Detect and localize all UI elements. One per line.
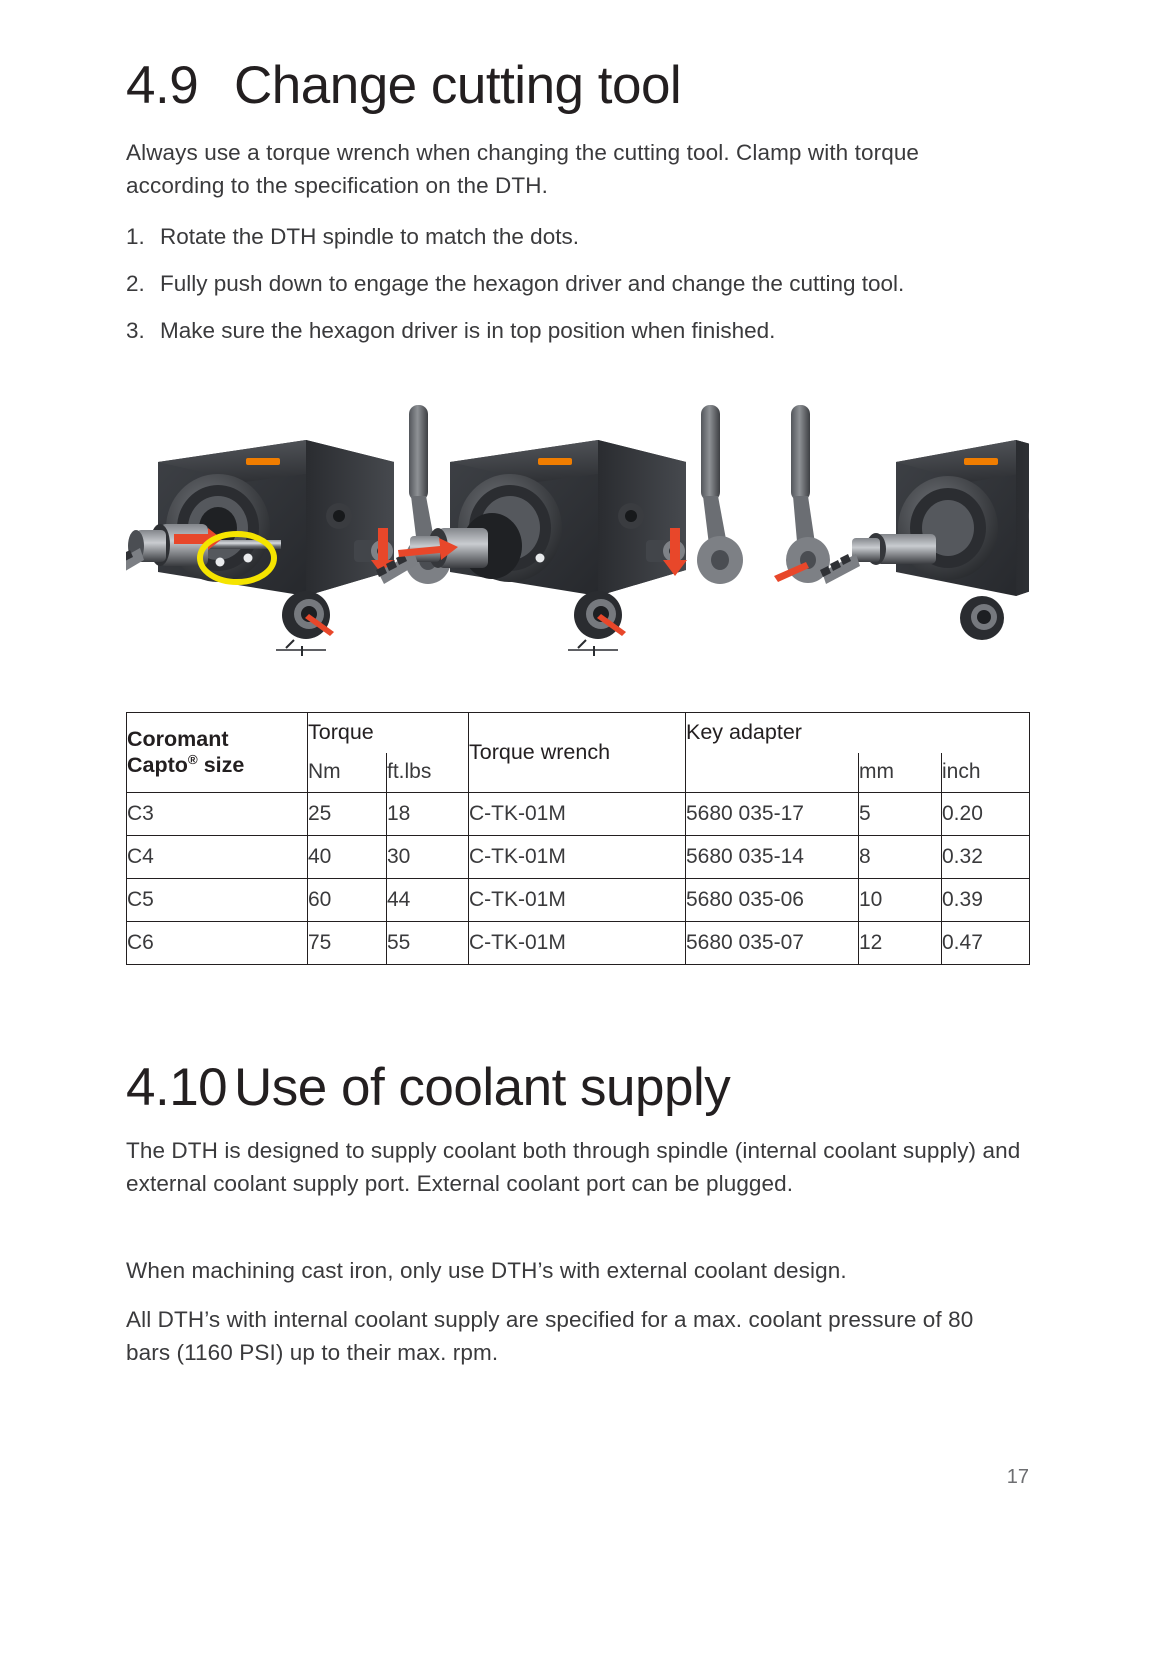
hexagon-driver-detail: [276, 591, 334, 656]
header-coromant-capto-size: Coromant Capto® size: [127, 713, 308, 793]
header-torque: Torque: [308, 713, 469, 753]
header-capto-size-line2: Capto® size: [127, 752, 307, 778]
hexagon-driver-detail: [568, 591, 626, 656]
alignment-dot: [244, 554, 253, 563]
dth-body: [896, 440, 1029, 596]
section-410-title: Use of coolant supply: [234, 1060, 1029, 1116]
header-torque-wrench: Torque wrench: [469, 713, 686, 793]
table-row: C4 40 30 C-TK-01M 5680 035-14 8 0.32: [127, 836, 1030, 879]
page-number: 17: [0, 1466, 1029, 1489]
table-row: C6 75 55 C-TK-01M 5680 035-07 12 0.47: [127, 922, 1030, 965]
cell-mm: 12: [859, 922, 942, 965]
torque-specification-table-wrapper: Coromant Capto® size Torque Torque wrenc…: [126, 712, 1029, 965]
cell-ftlbs: 44: [387, 879, 469, 922]
header-unit-mm: mm: [859, 753, 942, 793]
clamp-lever-icon: [697, 405, 743, 584]
cell-key-adapter: 5680 035-06: [686, 879, 859, 922]
cell-mm: 5: [859, 793, 942, 836]
dth-tool-illustration: [126, 400, 1029, 685]
table-row: C3 25 18 C-TK-01M 5680 035-17 5 0.20: [127, 793, 1030, 836]
cell-nm: 40: [308, 836, 387, 879]
list-item: 3. Make sure the hexagon driver is in to…: [126, 314, 1016, 347]
section-410-heading: 4.10 Use of coolant supply: [126, 1060, 1029, 1116]
cell-size: C5: [127, 879, 308, 922]
cell-ftlbs: 18: [387, 793, 469, 836]
step-text: Rotate the DTH spindle to match the dots…: [160, 220, 1016, 253]
section-49-heading: 4.9 Change cutting tool: [126, 58, 1029, 114]
brand-label: [964, 458, 998, 465]
alignment-dot: [216, 558, 225, 567]
torque-specification-table: Coromant Capto® size Torque Torque wrenc…: [126, 712, 1030, 965]
document-page: 4.9 Change cutting tool Always use a tor…: [0, 0, 1165, 1654]
section-49-title: Change cutting tool: [234, 58, 1029, 114]
cell-torque-wrench: C-TK-01M: [469, 922, 686, 965]
clamp-lever-icon: [774, 405, 830, 583]
header-unit-nm: Nm: [308, 753, 387, 793]
cell-mm: 10: [859, 879, 942, 922]
cell-ftlbs: 30: [387, 836, 469, 879]
header-key-adapter-code-spacer: [686, 753, 859, 793]
cell-size: C4: [127, 836, 308, 879]
table-row: C5 60 44 C-TK-01M 5680 035-06 10 0.39: [127, 879, 1030, 922]
cell-torque-wrench: C-TK-01M: [469, 793, 686, 836]
cell-inch: 0.47: [942, 922, 1030, 965]
section-49-number: 4.9: [126, 58, 234, 114]
header-unit-ftlbs: ft.lbs: [387, 753, 469, 793]
header-unit-inch: inch: [942, 753, 1030, 793]
cell-nm: 60: [308, 879, 387, 922]
header-key-adapter: Key adapter: [686, 713, 1030, 753]
list-item: 1. Rotate the DTH spindle to match the d…: [126, 220, 1016, 253]
brand-label: [246, 458, 280, 465]
section-49-intro-paragraph: Always use a torque wrench when changing…: [126, 136, 1006, 202]
step-number: 1.: [126, 220, 160, 253]
list-item: 2. Fully push down to engage the hexagon…: [126, 267, 1016, 300]
header-capto-word: Capto: [127, 753, 188, 777]
section-410-number: 4.10: [126, 1060, 234, 1116]
header-size-word: size: [198, 753, 245, 777]
registered-trademark-icon: ®: [188, 752, 198, 767]
cell-size: C6: [127, 922, 308, 965]
cell-key-adapter: 5680 035-07: [686, 922, 859, 965]
cell-inch: 0.39: [942, 879, 1030, 922]
step-number: 2.: [126, 267, 160, 300]
step-text: Make sure the hexagon driver is in top p…: [160, 314, 1016, 347]
cell-torque-wrench: C-TK-01M: [469, 836, 686, 879]
cell-inch: 0.20: [942, 793, 1030, 836]
table-body: C3 25 18 C-TK-01M 5680 035-17 5 0.20 C4 …: [127, 793, 1030, 965]
cell-size: C3: [127, 793, 308, 836]
dth-body: [158, 440, 394, 596]
change-cutting-tool-figure: [126, 400, 1029, 685]
brand-label: [538, 458, 572, 465]
alignment-dot: [536, 554, 545, 563]
change-cutting-tool-steps: 1. Rotate the DTH spindle to match the d…: [126, 220, 1016, 361]
cell-nm: 75: [308, 922, 387, 965]
section-410-paragraph-2: When machining cast iron, only use DTH’s…: [126, 1254, 1021, 1287]
cell-key-adapter: 5680 035-17: [686, 793, 859, 836]
cell-mm: 8: [859, 836, 942, 879]
panel-rotate-spindle: [126, 405, 451, 656]
step-text: Fully push down to engage the hexagon dr…: [160, 267, 1016, 300]
table-header-row-top: Coromant Capto® size Torque Torque wrenc…: [127, 713, 1030, 753]
step-number: 3.: [126, 314, 160, 347]
table-header: Coromant Capto® size Torque Torque wrenc…: [127, 713, 1030, 793]
panel-top-position: [774, 405, 1029, 640]
hexagon-driver-detail: [960, 596, 1004, 640]
cell-ftlbs: 55: [387, 922, 469, 965]
section-410-paragraph-1: The DTH is designed to supply coolant bo…: [126, 1134, 1021, 1200]
cell-inch: 0.32: [942, 836, 1030, 879]
cell-torque-wrench: C-TK-01M: [469, 879, 686, 922]
cell-nm: 25: [308, 793, 387, 836]
section-410-paragraph-3: All DTH’s with internal coolant supply a…: [126, 1303, 1021, 1369]
cell-key-adapter: 5680 035-14: [686, 836, 859, 879]
